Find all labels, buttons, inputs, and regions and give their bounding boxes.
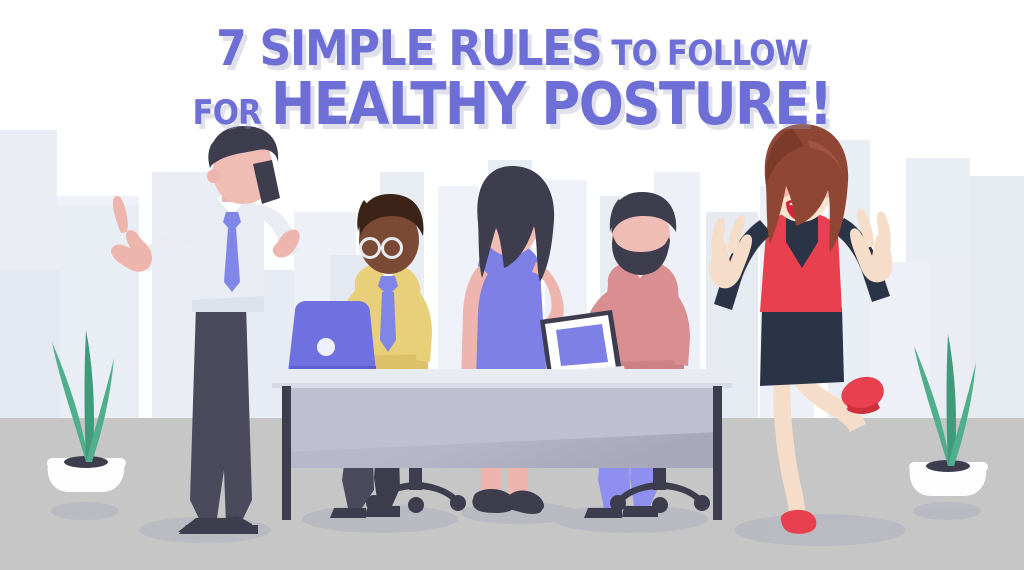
illustration xyxy=(0,0,1024,570)
poster-canvas: 7 SIMPLE RULES TO FOLLOW FOR HEALTHY POS… xyxy=(0,0,1024,570)
